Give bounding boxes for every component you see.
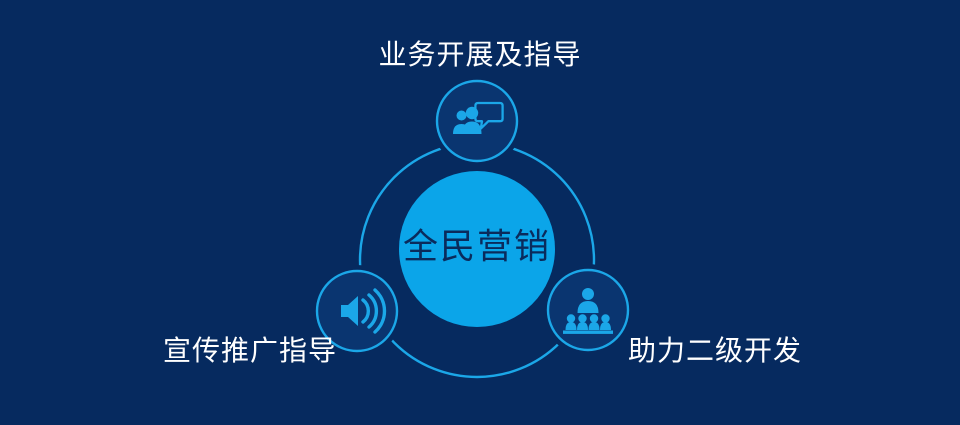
center-hub-label: 全民营销 (403, 231, 551, 266)
node-bottom-right[interactable] (548, 270, 628, 350)
node-bottom-right-label: 助力二级开发 (628, 337, 802, 365)
node-top-label: 业务开展及指导 (0, 41, 960, 69)
diagram-canvas: 全民营销 业务开展及指导 宣传推广指导 助力二级开发 (0, 0, 960, 425)
node-top[interactable] (437, 81, 517, 161)
node-bottom-left-label: 宣传推广指导 (163, 337, 337, 365)
